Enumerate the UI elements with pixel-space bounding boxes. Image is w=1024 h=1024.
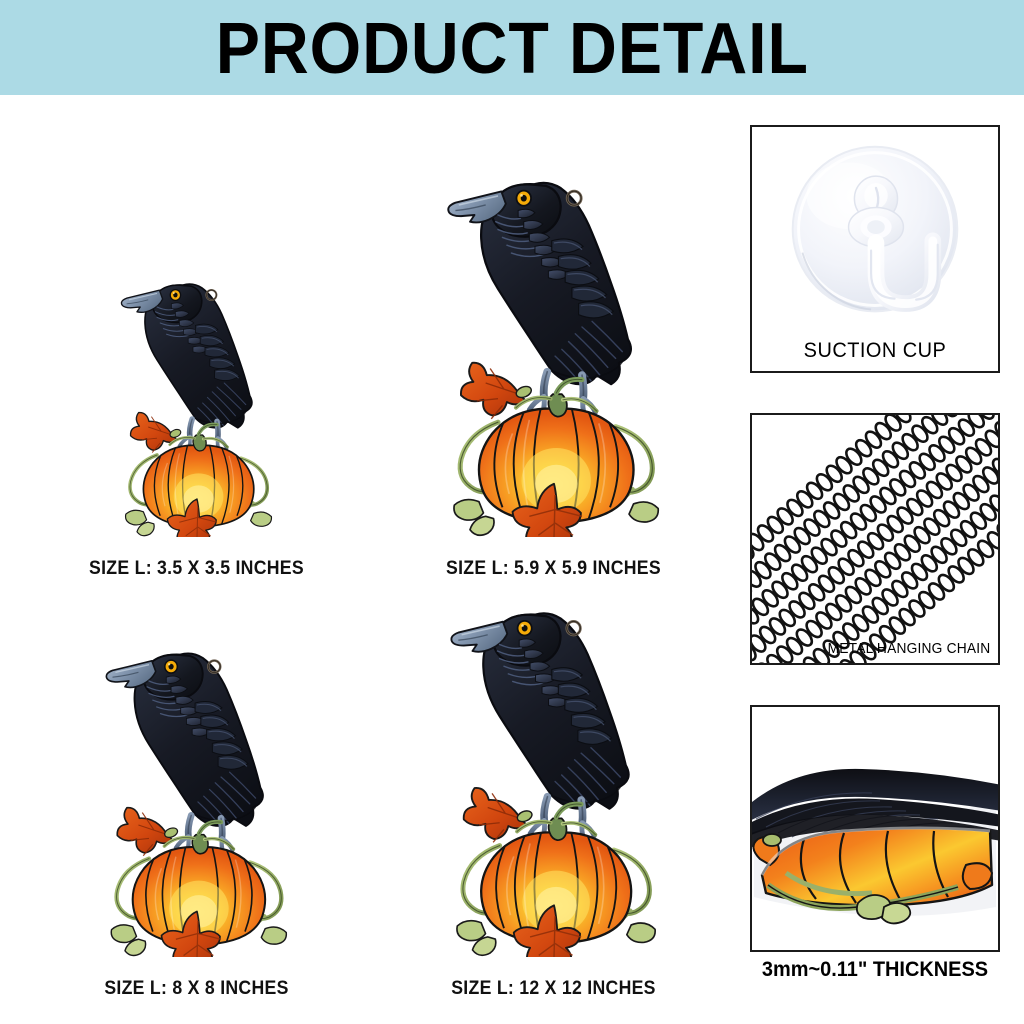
size-label: SIZE L: 12 X 12 INCHES bbox=[387, 978, 719, 1000]
page-title: PRODUCT DETAIL bbox=[215, 13, 808, 85]
size-variant-cell: SIZE L: 3.5 X 3.5 INCHES bbox=[18, 170, 375, 580]
panel-caption-thickness: 3mm~0.11" THICKNESS bbox=[756, 958, 994, 982]
feature-panel-suction-cup: SUCTION CUP bbox=[750, 125, 1000, 373]
raven-pumpkin-suncatcher-icon bbox=[414, 131, 694, 537]
raven-pumpkin-suncatcher-icon bbox=[77, 609, 317, 957]
feature-panel-thickness bbox=[750, 705, 1000, 952]
feature-panel-metal-hanging-chain: METAL HANGING CHAIN bbox=[750, 413, 1000, 665]
size-label: SIZE L: 3.5 X 3.5 INCHES bbox=[30, 558, 362, 580]
panel-caption-metal-hanging-chain: METAL HANGING CHAIN bbox=[827, 641, 990, 657]
metal-chain-icon bbox=[752, 415, 998, 665]
raven-pumpkin-suncatcher-icon bbox=[418, 563, 690, 957]
panel-caption-suction-cup: SUCTION CUP bbox=[758, 339, 992, 363]
raven-pumpkin-suncatcher-icon bbox=[97, 247, 297, 537]
suction-cup-icon bbox=[777, 135, 973, 336]
size-variant-cell: SIZE L: 5.9 X 5.9 INCHES bbox=[375, 140, 732, 580]
size-variant-cell: SIZE L: 12 X 12 INCHES bbox=[375, 550, 732, 1000]
size-variants-grid: SIZE L: 3.5 X 3.5 INCHES SIZE L: 5.9 X 5… bbox=[18, 110, 732, 1000]
product-artwork bbox=[414, 131, 694, 542]
thickness-closeup-icon bbox=[752, 707, 998, 952]
product-detail-page: PRODUCT DETAIL SIZE L: 3.5 X 3.5 INCHES … bbox=[0, 0, 1024, 1024]
page-header-banner: PRODUCT DETAIL bbox=[0, 0, 1024, 95]
product-artwork bbox=[97, 247, 297, 542]
size-label: SIZE L: 8 X 8 INCHES bbox=[30, 978, 362, 1000]
size-variant-cell: SIZE L: 8 X 8 INCHES bbox=[18, 590, 375, 1000]
product-artwork bbox=[77, 609, 317, 962]
product-artwork bbox=[418, 563, 690, 962]
